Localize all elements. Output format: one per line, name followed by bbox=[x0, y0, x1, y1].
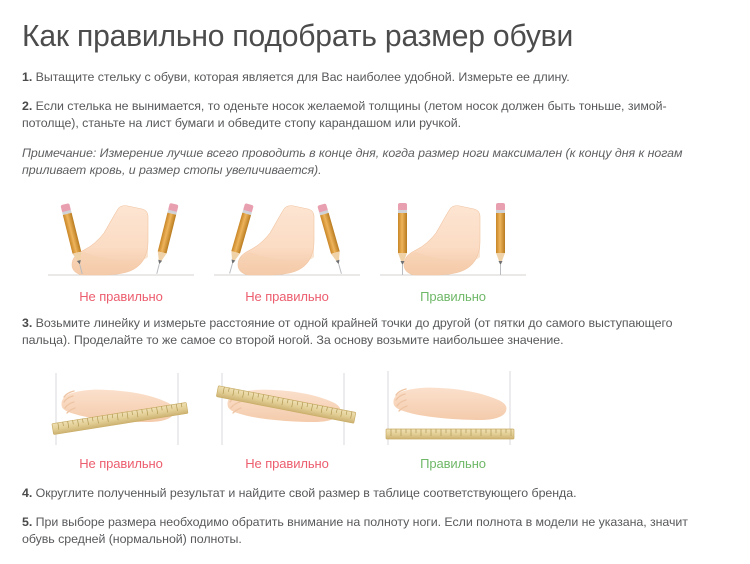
figure-canvas bbox=[204, 195, 370, 285]
step-4-text: Округлите полученный результат и найдите… bbox=[32, 486, 576, 500]
article-page: Как правильно подобрать размер обуви 1. … bbox=[0, 0, 750, 564]
figure-canvas bbox=[370, 195, 536, 285]
figure-foot-pencils-vertical: Правильно bbox=[370, 195, 536, 305]
figure-foot-pencils-tilted-outward: Не правильно bbox=[38, 195, 204, 305]
step-2-number: 2. bbox=[22, 99, 32, 113]
figure-caption: Не правильно bbox=[38, 456, 204, 472]
foot-ruler-diagonal-illustration bbox=[38, 367, 204, 452]
step-4-paragraph: 4. Округлите полученный результат и найд… bbox=[22, 485, 728, 502]
step-3-text: Возьмите линейку и измерьте расстояние о… bbox=[22, 316, 673, 347]
foot-pencils-tilted-inward-illustration bbox=[204, 195, 370, 285]
figure-canvas bbox=[370, 367, 536, 452]
figure-canvas bbox=[38, 195, 204, 285]
figure-canvas bbox=[38, 367, 204, 452]
step-2-text: Если стелька не вынимается, то оденьте н… bbox=[22, 99, 667, 130]
ruler-figure-row: Не правильно bbox=[22, 367, 728, 472]
step-5-text: При выборе размера необходимо обратить в… bbox=[22, 515, 688, 546]
figure-canvas bbox=[204, 367, 370, 452]
figure-foot-pencils-tilted-inward: Не правильно bbox=[204, 195, 370, 305]
figure-caption: Не правильно bbox=[38, 289, 204, 305]
figure-caption: Правильно bbox=[370, 456, 536, 472]
figure-caption: Не правильно bbox=[204, 289, 370, 305]
step-5-number: 5. bbox=[22, 515, 32, 529]
step-3-number: 3. bbox=[22, 316, 32, 330]
note-paragraph: Примечание: Измерение лучше всего провод… bbox=[22, 145, 728, 179]
ruler bbox=[386, 429, 514, 439]
step-1-number: 1. bbox=[22, 70, 32, 84]
pencil-right bbox=[317, 203, 345, 275]
step-4-number: 4. bbox=[22, 486, 32, 500]
pencil-right bbox=[496, 203, 505, 275]
step-3-paragraph: 3. Возьмите линейку и измерьте расстояни… bbox=[22, 315, 728, 349]
foot-pencils-vertical-illustration bbox=[370, 195, 536, 285]
foot-pencils-tilted-outward-illustration bbox=[38, 195, 204, 285]
figure-foot-ruler-horizontal: Правильно bbox=[370, 367, 536, 472]
foot-shape bbox=[393, 388, 506, 420]
pencil-figure-row: Не правильно bbox=[22, 195, 728, 305]
step-5-paragraph: 5. При выборе размера необходимо обратит… bbox=[22, 514, 728, 548]
figure-caption: Правильно bbox=[370, 289, 536, 305]
figure-foot-ruler-diagonal: Не правильно bbox=[38, 367, 204, 472]
step-1-paragraph: 1. Вытащите стельку с обуви, которая явл… bbox=[22, 69, 728, 86]
figure-caption: Не правильно bbox=[204, 456, 370, 472]
step-1-text: Вытащите стельку с обуви, которая являет… bbox=[32, 70, 569, 84]
page-title: Как правильно подобрать размер обуви bbox=[22, 0, 707, 54]
figure-foot-ruler-across: Не правильно bbox=[204, 367, 370, 472]
step-2-paragraph: 2. Если стелька не вынимается, то оденьт… bbox=[22, 98, 728, 132]
pencil-right bbox=[152, 203, 178, 275]
foot-ruler-horizontal-illustration bbox=[370, 367, 536, 452]
foot-ruler-across-illustration bbox=[204, 367, 370, 452]
